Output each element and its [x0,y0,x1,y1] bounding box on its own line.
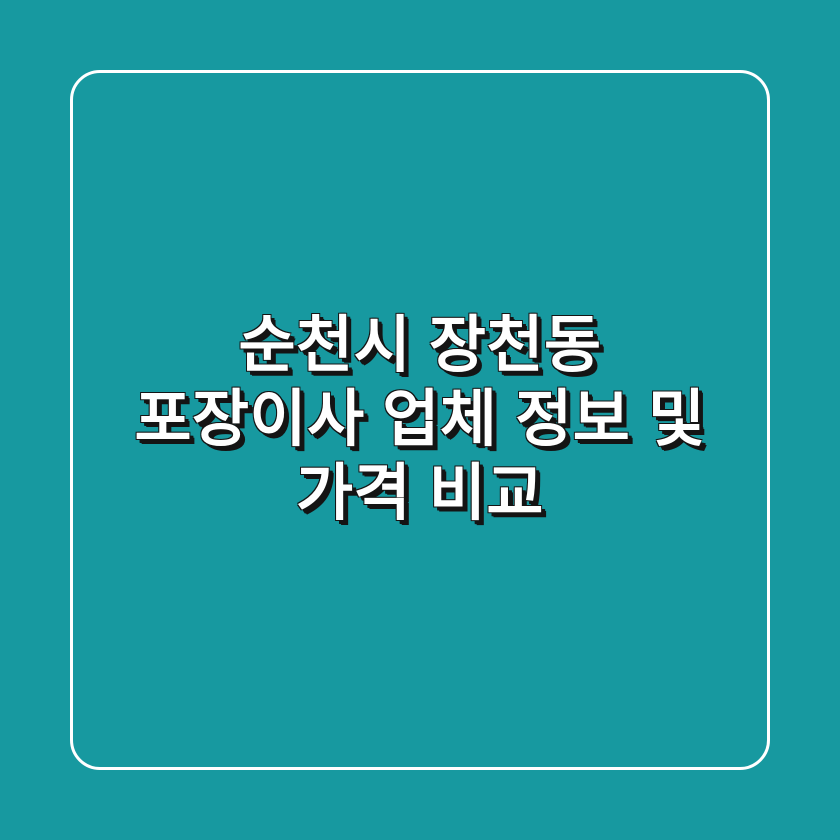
title-line-2: 포장이사 업체 정보 및 [90,383,750,457]
poster-canvas: 순천시 장천동 포장이사 업체 정보 및 가격 비교 [0,0,840,840]
title-line-3: 가격 비교 [90,457,750,531]
title-line-1: 순천시 장천동 [90,309,750,383]
page-title: 순천시 장천동 포장이사 업체 정보 및 가격 비교 [0,0,840,840]
